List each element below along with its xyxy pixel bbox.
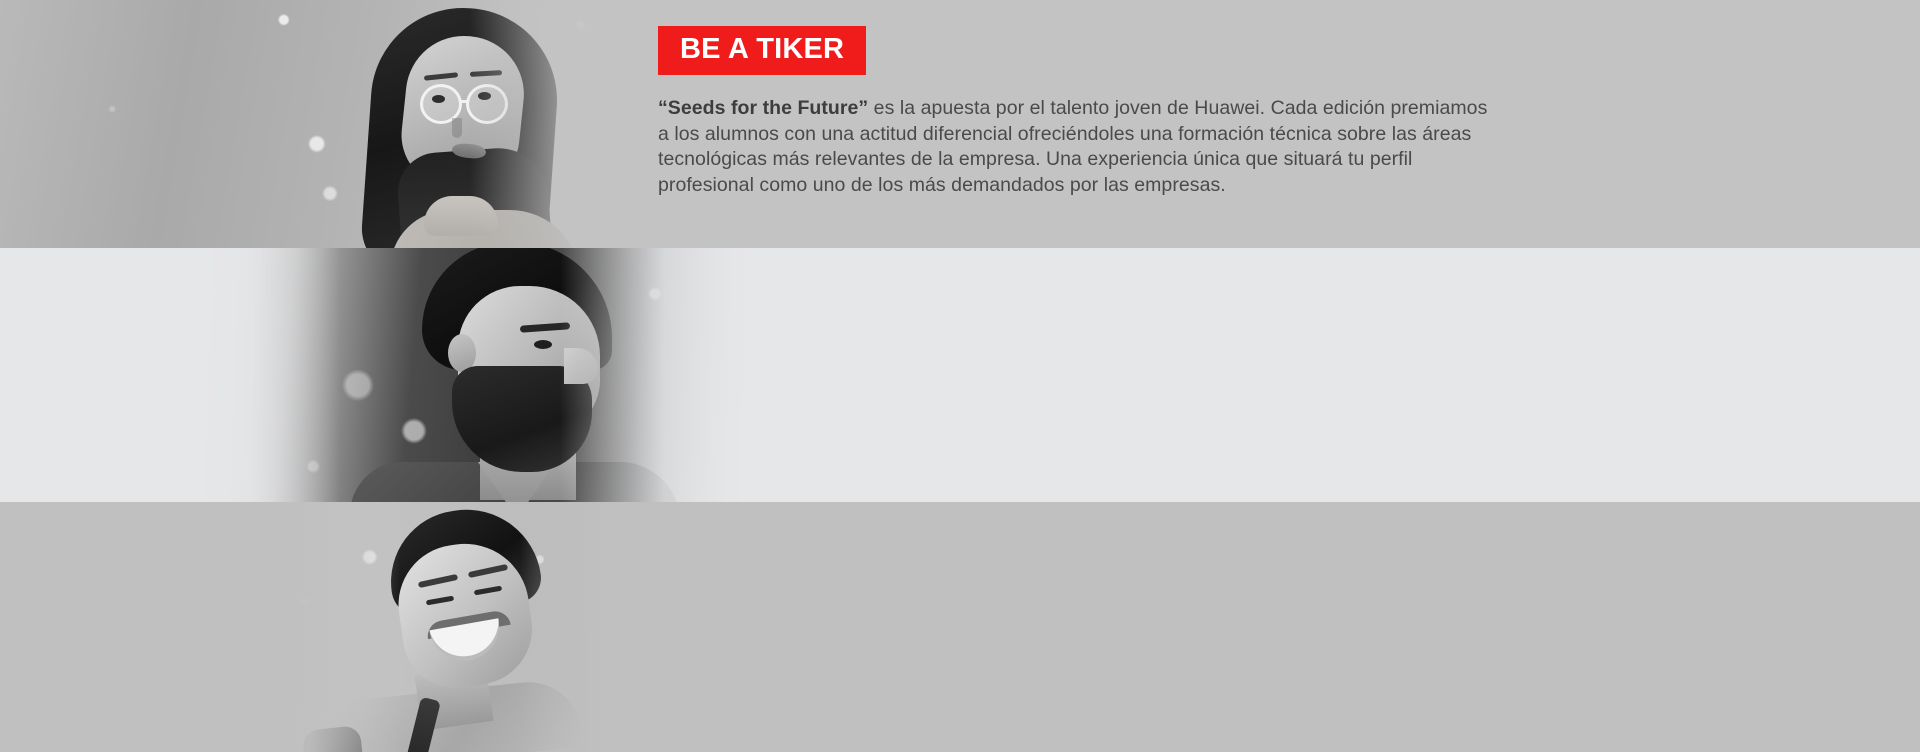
portrait-tanktop [287,677,583,752]
fresh-graduate-hero-image [250,502,710,752]
portrait-beard [452,366,592,472]
portrait-hair [422,248,612,370]
portrait-hair [382,502,544,620]
portrait-backpack-strap [403,697,441,752]
portrait-ear [448,334,476,372]
hero-background-bokeh [0,0,660,248]
tiker-hero-image [0,0,660,248]
glasses-lens-right-icon [466,84,508,124]
section-be-an-intern: BE AN INTERN Ofrecemos oportunidades de … [0,248,1920,502]
portrait-neck [480,444,576,500]
glasses-lens-left-icon [420,84,462,124]
portrait-eye-left [426,596,454,606]
section-be-a-tiker: BE A TIKER “Seeds for the Future” es la … [0,0,1920,248]
hero-right-fade [520,502,710,752]
portrait-v-neckline [478,462,556,502]
intern-hero-image [190,248,750,502]
badge-be-a-tiker[interactable]: BE A TIKER [658,26,866,75]
portrait-eye-right [478,92,491,100]
glasses-bridge-icon [461,100,469,103]
hero-left-fade [250,502,400,752]
portrait-face [458,286,600,436]
portrait-face [396,30,529,194]
portrait-nose [452,118,462,138]
hero-right-fade [560,248,750,502]
portrait-upper-lip [425,609,511,639]
hero-background-bokeh [190,248,750,502]
tiker-text-block: BE A TIKER “Seeds for the Future” es la … [658,26,1488,198]
section-be-a-fresh-graduate: BE A FRESH GRADUATE Ofrecemos la oportun… [0,502,1920,752]
portrait-tshirt [350,462,680,502]
portrait-eye-left [432,95,445,103]
portrait-hair [359,2,563,248]
portrait-eye-right [474,586,502,596]
portrait-hair-strands [395,145,554,248]
portrait-face [391,536,539,695]
portrait-eyebrow-right [468,564,508,578]
portrait-lips [451,142,486,159]
tiker-description-lead: “Seeds for the Future” [658,97,868,119]
portrait-eyebrow-right [470,70,502,77]
portrait-eyebrow-left [424,72,458,81]
portrait-smile [429,618,504,666]
portrait-eyebrow-left [418,574,458,588]
hero-right-fade [470,0,660,248]
portrait-nose [564,348,598,384]
tiker-description: “Seeds for the Future” es la apuesta por… [658,96,1488,198]
portrait-neck [430,168,488,228]
hero-left-fade [190,248,340,502]
portrait-neck [414,665,493,730]
portrait-eyebrow [520,322,570,332]
hero-background-bokeh [250,502,710,752]
portrait-eye [534,340,552,349]
portrait-turtleneck-collar [424,196,498,236]
careers-programs-page: BE A TIKER “Seeds for the Future” es la … [0,0,1920,752]
portrait-backpack [302,725,364,752]
portrait-sweater [390,210,580,248]
